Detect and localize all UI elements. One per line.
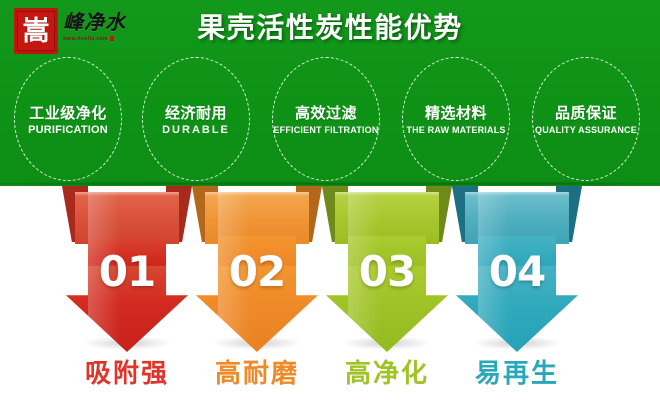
poster-root: 嵩 峰净水 www.hnsfjs.com 果壳活性炭性能优势 工业级净化 PUR…	[0, 0, 660, 400]
logo-brand-name: 峰净水	[63, 12, 126, 32]
badge-label-cn: 经济耐用	[165, 104, 227, 122]
caption-02: 高耐磨	[192, 352, 322, 396]
logo-url-marker-icon	[110, 36, 114, 41]
arrow-step-03: 03	[322, 186, 452, 356]
logo-seal-icon: 嵩	[14, 8, 58, 54]
feature-badge-quality-assurance: 品质保证 QUALITY ASSURANCE	[532, 57, 640, 181]
arrow-number: 03	[322, 248, 452, 296]
badge-label-en: EFFICIENT FILTRATION	[273, 125, 378, 135]
badge-label-cn: 高效过滤	[295, 104, 357, 122]
badge-label-en: QUALITY ASSURANCE	[535, 125, 637, 135]
arrow-step-01: 01	[62, 186, 192, 356]
logo-website-url: www.hnsfjs.com	[63, 36, 126, 42]
feature-badge-raw-materials: 精选材料 THE RAW MATERIALS	[402, 57, 510, 181]
caption-row: 吸附强 高耐磨 高净化 易再生	[0, 352, 660, 400]
feature-badge-purification: 工业级净化 PURIFICATION	[14, 57, 122, 181]
logo-url-text: www.hnsfjs.com	[63, 36, 108, 42]
logo-seal-character: 嵩	[17, 11, 55, 51]
arrow-number: 01	[62, 248, 192, 296]
badge-label-en: THE RAW MATERIALS	[406, 125, 505, 135]
badge-label-cn: 精选材料	[425, 104, 487, 122]
arrow-number: 02	[192, 248, 322, 296]
shelf-shadow	[18, 182, 642, 185]
badge-label-en: DURABLE	[162, 125, 230, 135]
caption-01: 吸附强	[62, 352, 192, 396]
green-header-panel: 嵩 峰净水 www.hnsfjs.com 果壳活性炭性能优势 工业级净化 PUR…	[0, 0, 660, 186]
feature-badge-efficient-filtration: 高效过滤 EFFICIENT FILTRATION	[272, 57, 380, 181]
arrow-step-02: 02	[192, 186, 322, 356]
feature-badge-row: 工业级净化 PURIFICATION 经济耐用 DURABLE 高效过滤 EFF…	[0, 57, 660, 181]
badge-label-en: PURIFICATION	[28, 125, 108, 135]
arrow-number: 04	[452, 248, 582, 296]
brand-logo: 嵩 峰净水 www.hnsfjs.com	[14, 8, 134, 56]
logo-text-block: 峰净水 www.hnsfjs.com	[63, 8, 126, 42]
arrow-step-04: 04	[452, 186, 582, 356]
feature-badge-durable: 经济耐用 DURABLE	[142, 57, 250, 181]
arrow-step-row: 01 02 03	[0, 186, 660, 356]
caption-03: 高净化	[322, 352, 452, 396]
caption-04: 易再生	[452, 352, 582, 396]
badge-label-cn: 品质保证	[555, 104, 617, 122]
badge-label-cn: 工业级净化	[29, 104, 107, 122]
